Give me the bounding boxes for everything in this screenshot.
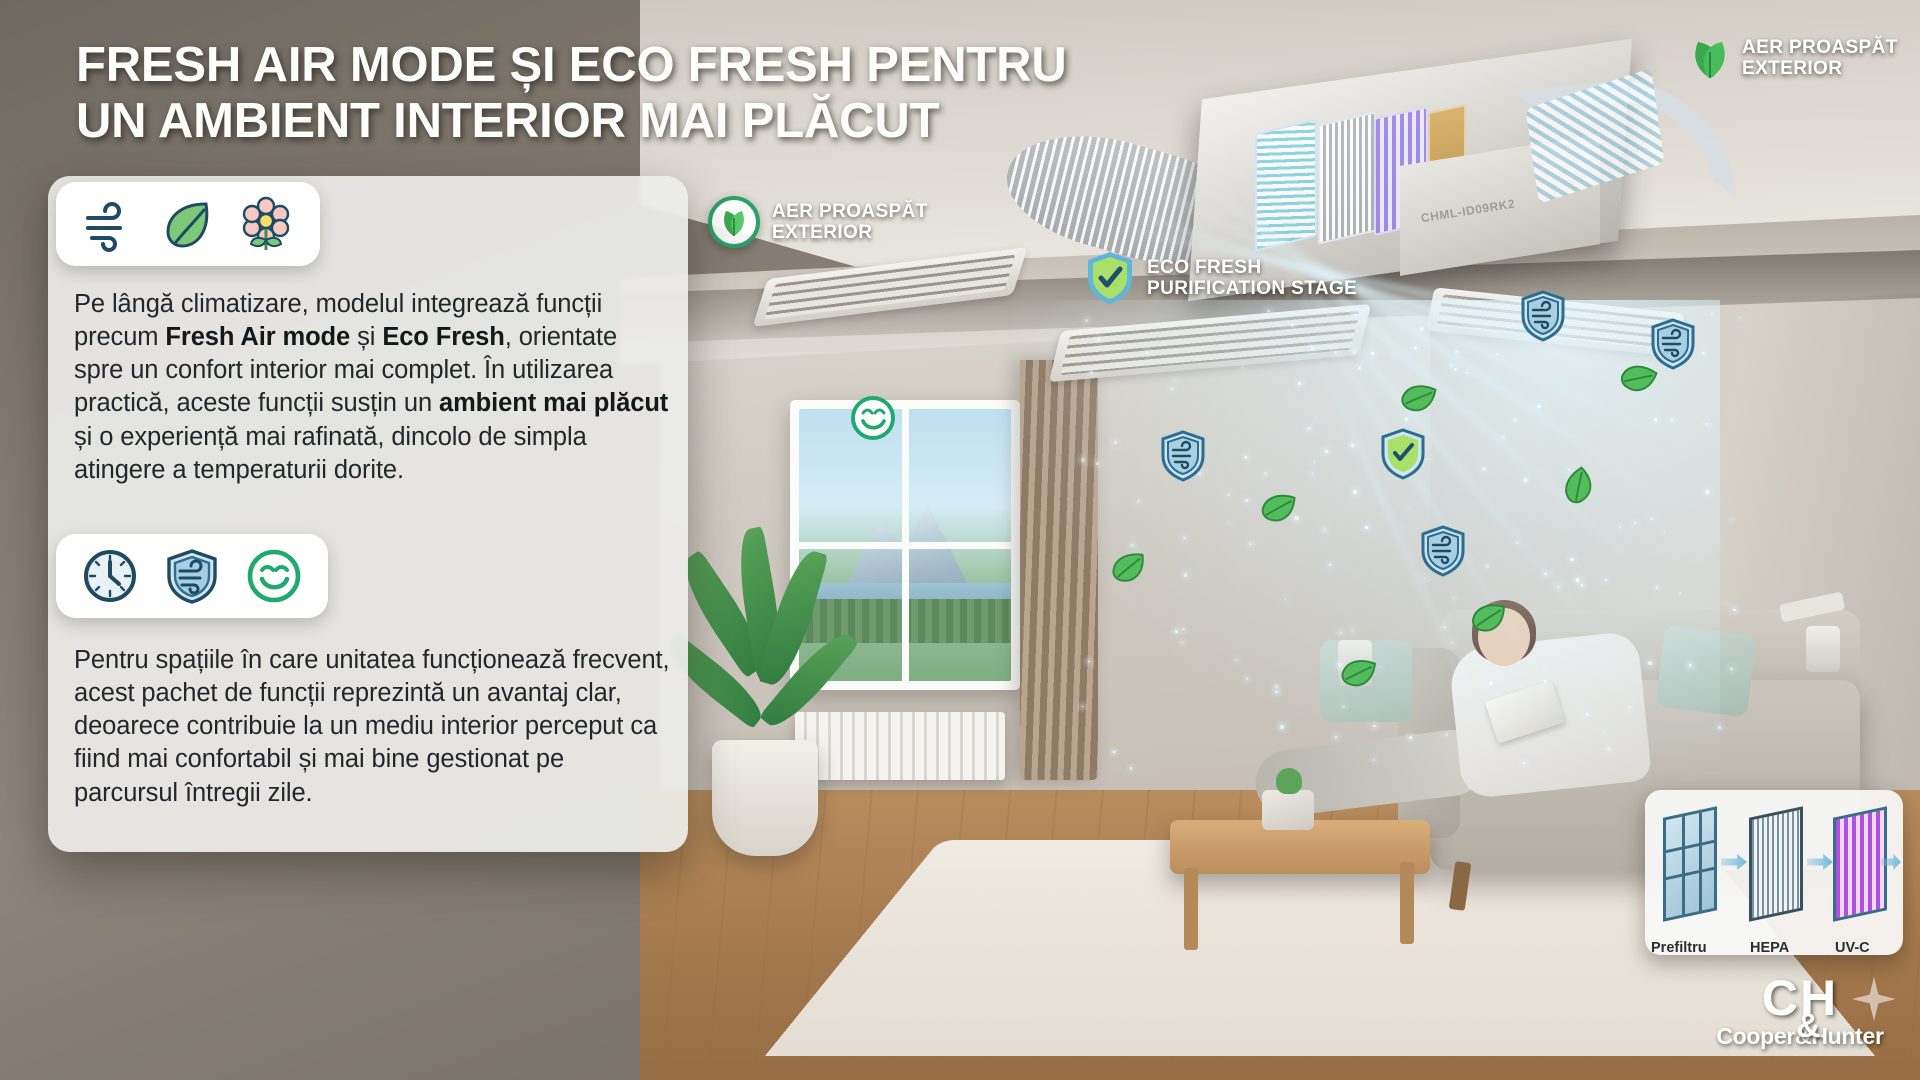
airflow-arrow-icon <box>1721 854 1747 870</box>
filter-label: HEPA <box>1750 940 1789 956</box>
paragraph-1: Pe lângă climatizare, modelul integrează… <box>74 288 670 487</box>
leaf-badge-icon <box>708 196 760 248</box>
emphasis: ambient mai plăcut <box>439 389 668 417</box>
icon-pill-top <box>56 182 320 266</box>
callout-fresh-air-top-right: AER PROASPĂT EXTERIOR <box>1690 36 1898 80</box>
wall-sconce <box>1338 640 1372 686</box>
shield-check-icon <box>1085 250 1135 306</box>
callout-fresh-air-left: AER PROASPĂT EXTERIOR <box>708 196 928 248</box>
table-leg <box>1400 862 1414 944</box>
table-planter <box>1262 790 1314 830</box>
leaf-icon <box>160 196 216 252</box>
info-card: Pe lângă climatizare, modelul integrează… <box>48 176 688 852</box>
page-title: FRESH AIR MODE ȘI ECO FRESH PENTRU UN AM… <box>76 38 1176 150</box>
wall-sconce <box>1806 626 1840 672</box>
curtain <box>1020 360 1098 780</box>
filter-label: UV-C <box>1835 940 1870 956</box>
window-mullion-horizontal <box>799 542 1011 549</box>
emphasis: Fresh Air mode <box>165 323 350 351</box>
leaves-icon <box>1690 36 1730 80</box>
filter-label: Prefiltru <box>1651 940 1707 956</box>
uvc-panel <box>1833 806 1887 921</box>
airflow-arrow-icon <box>1807 854 1833 870</box>
leaf-glyph-icon <box>718 206 750 238</box>
cushion <box>1655 625 1756 718</box>
flower-icon <box>238 196 294 252</box>
callout-eco-fresh-stage: ECO FRESH PURIFICATION STAGE <box>1085 250 1357 306</box>
paragraph-2: Pentru spațiile în care unitatea funcțio… <box>74 644 670 810</box>
filter-stage-hepa: HEPA <box>1749 812 1803 916</box>
prefilter-panel <box>1663 806 1717 921</box>
filter-stage-uvc: UV-C <box>1833 812 1887 916</box>
ac-filter-hepa <box>1318 111 1376 244</box>
wind-lines-icon <box>82 196 138 252</box>
radiator <box>795 712 1005 780</box>
table-leg <box>1184 868 1198 950</box>
table-plant <box>1276 768 1302 794</box>
ac-filter-mesh <box>1255 118 1317 251</box>
filter-stages-card: Prefiltru HEPA UV-C <box>1645 790 1903 955</box>
cooper-hunter-logo: CH & Cooper&Hunter <box>1700 975 1900 1065</box>
hepa-panel <box>1749 806 1803 921</box>
callout-label: AER PROASPĂT EXTERIOR <box>1742 37 1898 80</box>
filter-stage-prefilter: Prefiltru <box>1663 812 1717 916</box>
smiley-face-icon <box>246 548 302 604</box>
callout-label: AER PROASPĂT EXTERIOR <box>772 201 928 244</box>
icon-pill-middle <box>56 534 328 618</box>
logo-ampersand: & <box>1796 1007 1821 1046</box>
clock-icon <box>82 548 138 604</box>
emphasis: Eco Fresh <box>382 323 504 351</box>
plant-pot <box>712 740 818 856</box>
shield-wind-icon <box>164 548 220 604</box>
callout-label: ECO FRESH PURIFICATION STAGE <box>1147 257 1357 300</box>
person-head <box>1478 608 1530 666</box>
